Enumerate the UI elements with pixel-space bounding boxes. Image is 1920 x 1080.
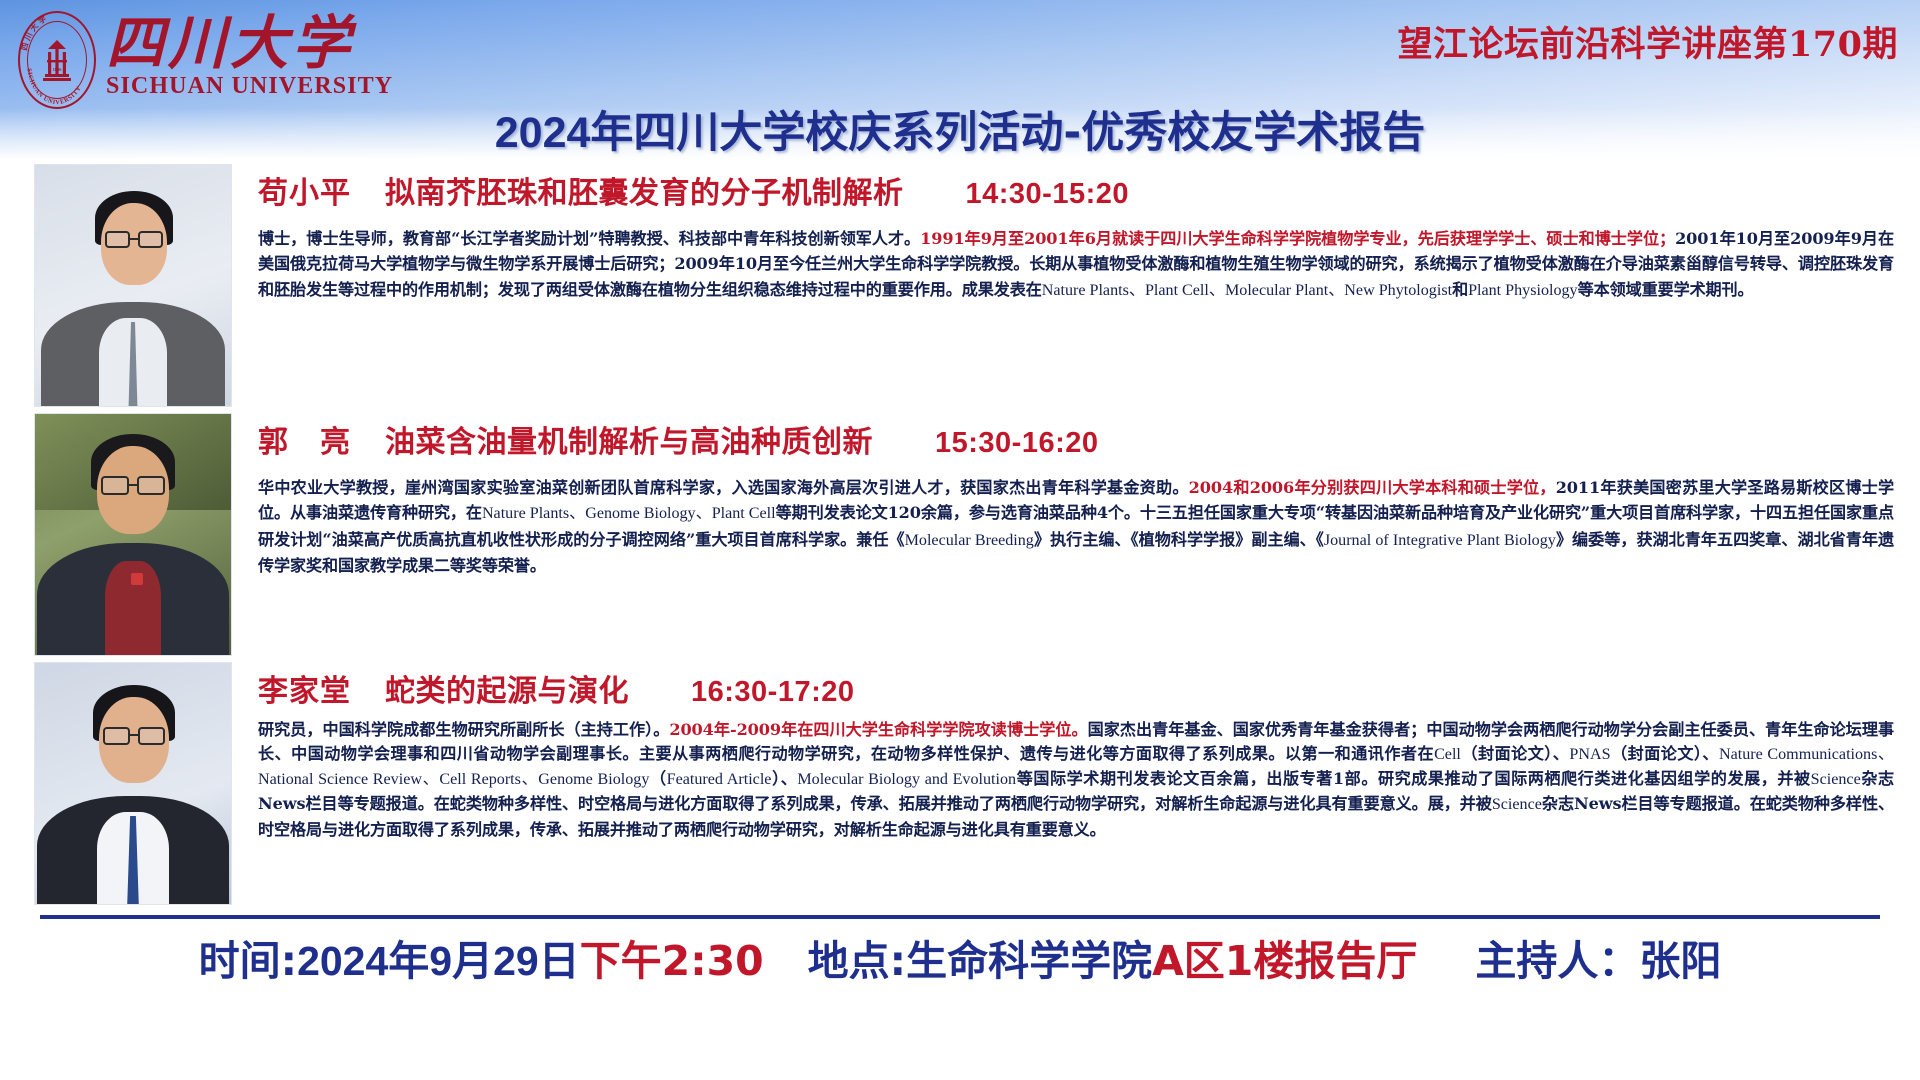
- speaker-bio: 研究员，中国科学院成都生物研究所副所长（主持工作）。2004年-2009年在四川…: [258, 718, 1894, 842]
- bio-text-run: Science: [1811, 771, 1861, 788]
- bio-text-run: 2004年-2009年在四川大学生命科学学院攻读博士学位。: [669, 720, 1087, 739]
- speaker-heading-2: 郭 亮 油菜含油量机制解析与高油种质创新 15:30-16:20: [258, 417, 1894, 461]
- speaker-bio: 博士，博士生导师，教育部“长江学者奖励计划”特聘教授、科技部中青年科技创新领军人…: [258, 226, 1894, 303]
- bio-text-run: 1991年9月至2001年6月就读于四川大学生命科学学院植物学专业，先后获理学学…: [920, 229, 1675, 248]
- university-name-cn: 四川大学: [106, 12, 393, 75]
- speaker-bio: 华中农业大学教授，崖州湾国家实验室油菜创新团队首席科学家，入选国家海外高层次引进…: [258, 475, 1894, 579]
- university-name-en: SICHUAN UNIVERSITY: [106, 73, 393, 100]
- footer-host-name: 张阳: [1639, 927, 1721, 987]
- bio-text-run: Science: [1492, 796, 1542, 813]
- speaker-name: 郭 亮: [258, 417, 351, 461]
- lecture-series-label: 望江论坛前沿科学讲座第170期: [1397, 16, 1898, 67]
- speaker-block-1: 苟小平 拟南芥胚珠和胚囊发育的分子机制解析 14:30-15:20 博士，博士生…: [0, 164, 1920, 407]
- bio-text-run: 华中农业大学教授，崖州湾国家实验室油菜创新团队首席科学家，入选国家海外高层次引进…: [258, 478, 1189, 497]
- footer-info: 时间:2024年9月29日下午2:30 地点:生命科学学院A区1楼报告厅 主持人…: [0, 927, 1920, 987]
- bio-text-run: Cell: [1434, 746, 1461, 763]
- bio-text-run: Featured Article: [667, 771, 772, 788]
- footer-place-label: 地点:: [808, 927, 906, 987]
- bio-text-run: Nature Plants、Plant Cell、Molecular Plant…: [1042, 282, 1452, 299]
- speaker-time: 15:30-16:20: [935, 427, 1099, 460]
- speaker-portrait-3: [34, 662, 232, 905]
- speaker-block-2: 郭 亮 油菜含油量机制解析与高油种质创新 15:30-16:20 华中农业大学教…: [0, 413, 1920, 656]
- poster-header: 四 川 大 学 SICHUAN UNIVERSITY 1896: [0, 0, 1920, 164]
- footer-time-clock: 下午2:30: [580, 927, 764, 987]
- seal-gate-icon: 1896: [42, 38, 72, 84]
- speaker-topic: 油菜含油量机制解析与高油种质创新: [385, 417, 873, 461]
- speaker-name: 李家堂: [258, 666, 351, 710]
- footer-time-label: 时间:: [199, 927, 297, 987]
- bio-text-run: 和: [1452, 280, 1468, 299]
- svg-text:1896: 1896: [53, 67, 63, 72]
- footer-time-date: 2024年9月29日: [297, 927, 580, 987]
- bio-text-run: Molecular Breeding: [905, 532, 1034, 549]
- bio-text-run: Plant Physiology: [1468, 282, 1578, 299]
- bio-text-run: 2004和2006年分别获四川大学本科和硕士学位，: [1189, 478, 1556, 497]
- speaker-heading-1: 苟小平 拟南芥胚珠和胚囊发育的分子机制解析 14:30-15:20: [258, 168, 1894, 212]
- footer-host-label: 主持人：: [1475, 927, 1639, 987]
- speaker-topic: 拟南芥胚珠和胚囊发育的分子机制解析: [385, 168, 904, 212]
- bio-text-run: 等国际学术期刊发表论文百余篇，出版专著1部。研究成果推动了国际两栖爬行类进化基因…: [1016, 769, 1811, 788]
- bio-text-run: 等本领域重要学术期刊。: [1578, 280, 1754, 299]
- bio-text-run: （封面论文）、: [1611, 744, 1719, 763]
- speaker-portrait-1: [34, 164, 232, 407]
- speaker-name: 苟小平: [258, 168, 351, 212]
- bio-text-run: 》执行主编、《植物科学学报》副主编、《: [1034, 530, 1324, 549]
- bio-text-run: （: [649, 769, 666, 788]
- speaker-heading-3: 李家堂 蛇类的起源与演化 16:30-17:20: [258, 666, 1894, 710]
- bio-text-run: Journal of Integrative Plant Biology: [1324, 532, 1556, 549]
- speaker-time: 14:30-15:20: [966, 178, 1130, 211]
- sichuan-university-seal-icon: 四 川 大 学 SICHUAN UNIVERSITY 1896: [14, 8, 100, 112]
- bio-text-run: 研究员，中国科学院成都生物研究所副所长（主持工作）。: [258, 720, 669, 739]
- speaker-topic: 蛇类的起源与演化: [385, 666, 629, 710]
- bio-text-run: 博士，博士生导师，教育部“长江学者奖励计划”特聘教授、科技部中青年科技创新领军人…: [258, 229, 920, 248]
- footer-place-room: A区1楼报告厅: [1152, 927, 1417, 987]
- speaker-portrait-2: [34, 413, 232, 656]
- bio-text-run: （封面论文）、: [1461, 744, 1569, 763]
- speaker-block-3: 李家堂 蛇类的起源与演化 16:30-17:20 研究员，中国科学院成都生物研究…: [0, 662, 1920, 905]
- speaker-time: 16:30-17:20: [691, 676, 855, 709]
- page-title-rest: 年四川大学校庆系列活动-优秀校友学术报告: [590, 108, 1425, 158]
- bio-text-run: Nature Plants、Genome Biology、Plant Cell: [482, 505, 776, 522]
- bio-text-run: ）、: [771, 769, 797, 788]
- page-title-year: 2024: [495, 109, 591, 157]
- university-logo: 四 川 大 学 SICHUAN UNIVERSITY 1896: [14, 8, 393, 112]
- speakers-list: 苟小平 拟南芥胚珠和胚囊发育的分子机制解析 14:30-15:20 博士，博士生…: [0, 164, 1920, 905]
- footer-divider: [40, 915, 1880, 919]
- bio-text-run: PNAS: [1569, 746, 1610, 763]
- poster-root: 四 川 大 学 SICHUAN UNIVERSITY 1896: [0, 0, 1920, 1080]
- bio-text-run: Molecular Biology and Evolution: [797, 771, 1016, 788]
- page-title: 2024年四川大学校庆系列活动-优秀校友学术报告: [0, 98, 1920, 160]
- footer-place-building: 生命科学学院: [906, 927, 1152, 987]
